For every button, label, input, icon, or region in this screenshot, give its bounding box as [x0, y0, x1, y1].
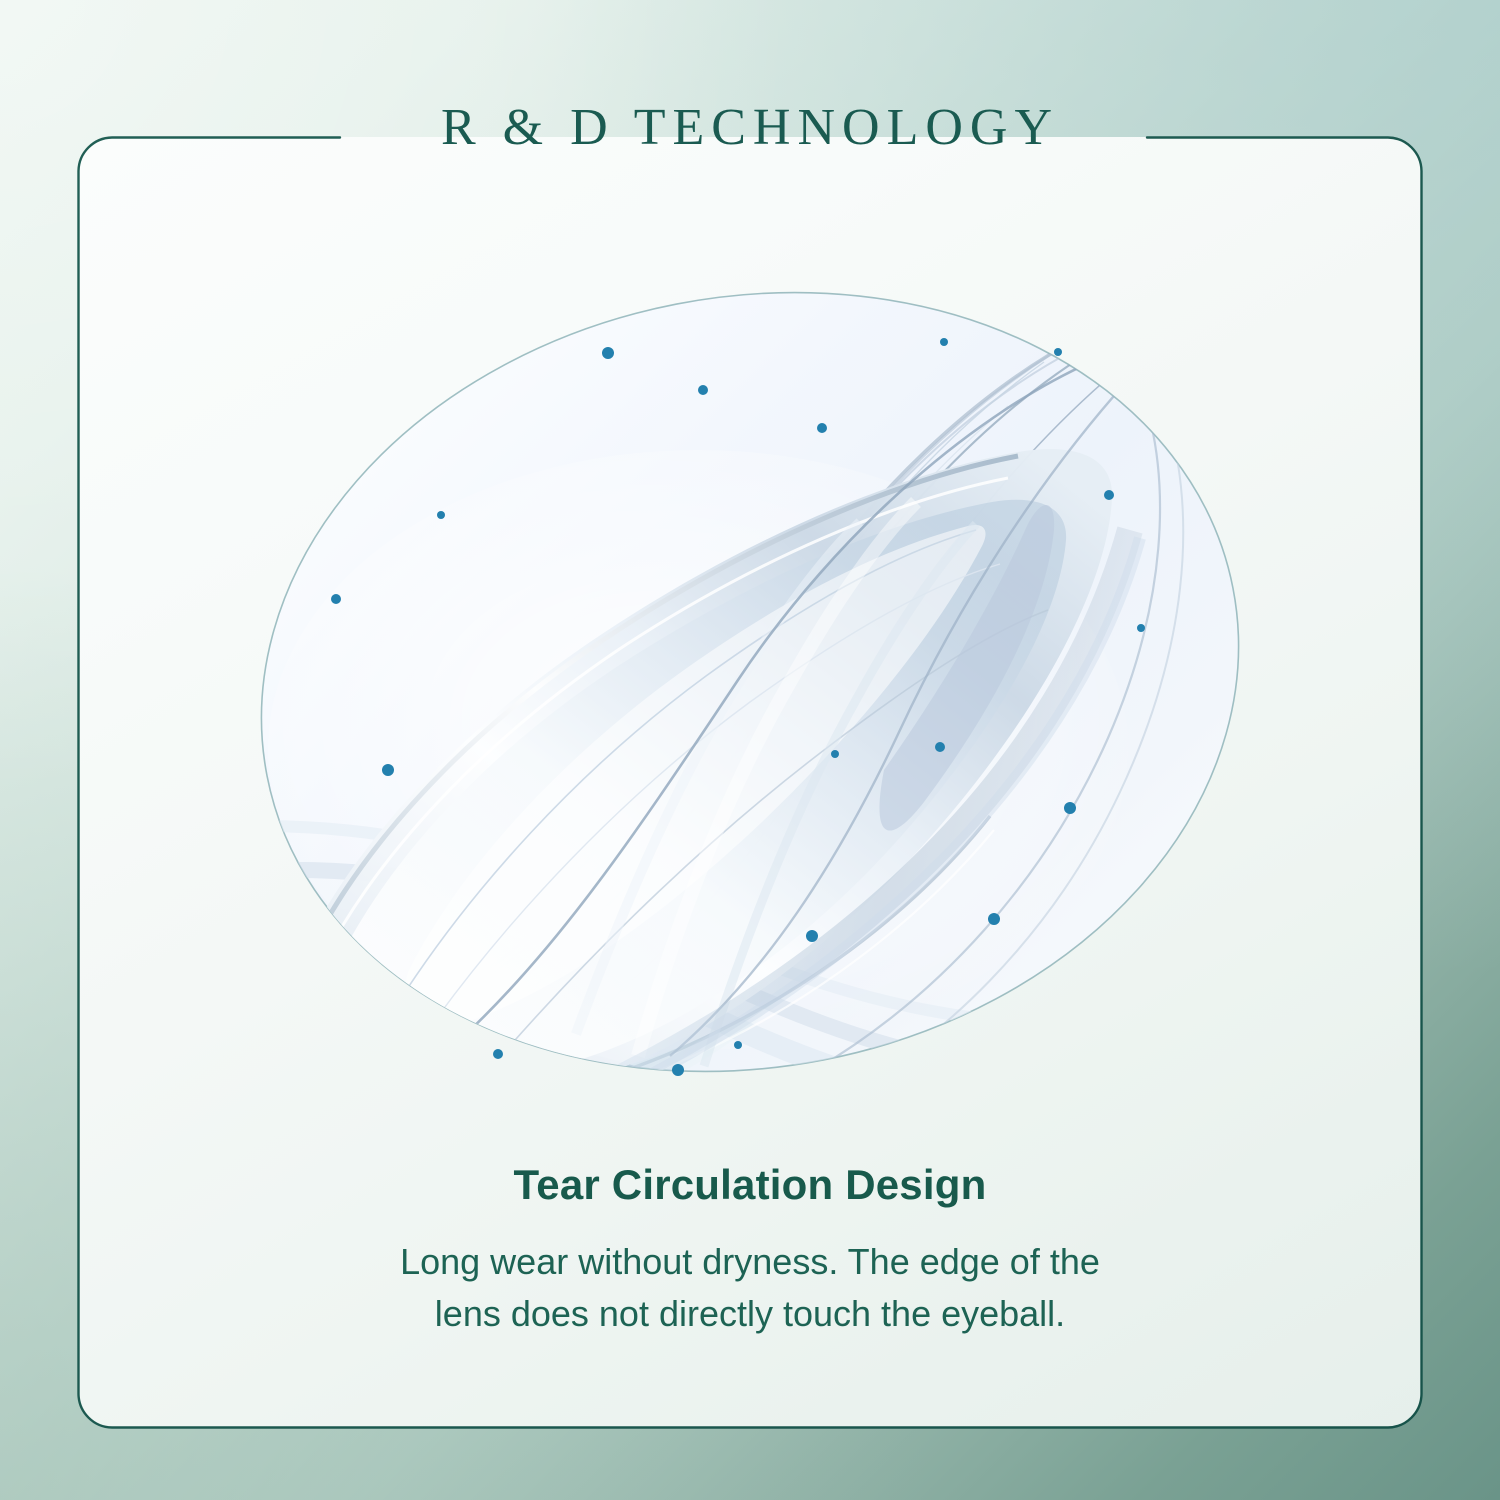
- tear-dot: [698, 385, 708, 395]
- feature-description: Long wear without dryness. The edge of t…: [350, 1236, 1150, 1338]
- tear-dot: [602, 347, 614, 359]
- tear-dot: [1104, 490, 1114, 500]
- tear-dot: [672, 1064, 684, 1076]
- feature-description-line-2: lens does not directly touch the eyeball…: [350, 1288, 1150, 1339]
- hero-illustration: [78, 230, 1422, 1160]
- tear-dot: [831, 750, 839, 758]
- tear-dot: [734, 1041, 742, 1049]
- tear-dot: [817, 423, 827, 433]
- tear-dot: [493, 1049, 503, 1059]
- tear-dot: [382, 764, 394, 776]
- tear-dot: [988, 913, 1000, 925]
- tear-dot: [935, 742, 945, 752]
- tear-dot: [1064, 802, 1076, 814]
- tear-dot: [437, 511, 445, 519]
- tear-dot: [1137, 624, 1145, 632]
- feature-description-line-1: Long wear without dryness. The edge of t…: [350, 1236, 1150, 1287]
- tear-dot: [940, 338, 948, 346]
- caption-block: Tear Circulation Design Long wear withou…: [78, 1160, 1422, 1339]
- tear-dot: [1054, 348, 1062, 356]
- feature-title: Tear Circulation Design: [78, 1160, 1422, 1210]
- poster-canvas: R & D TECHNOLOGY: [0, 0, 1500, 1500]
- tear-dot: [331, 594, 341, 604]
- page-title: R & D TECHNOLOGY: [0, 101, 1500, 156]
- contact-lens-graphic: [78, 230, 1422, 1160]
- water-droplet: [1179, 272, 1290, 373]
- tear-dot: [806, 930, 818, 942]
